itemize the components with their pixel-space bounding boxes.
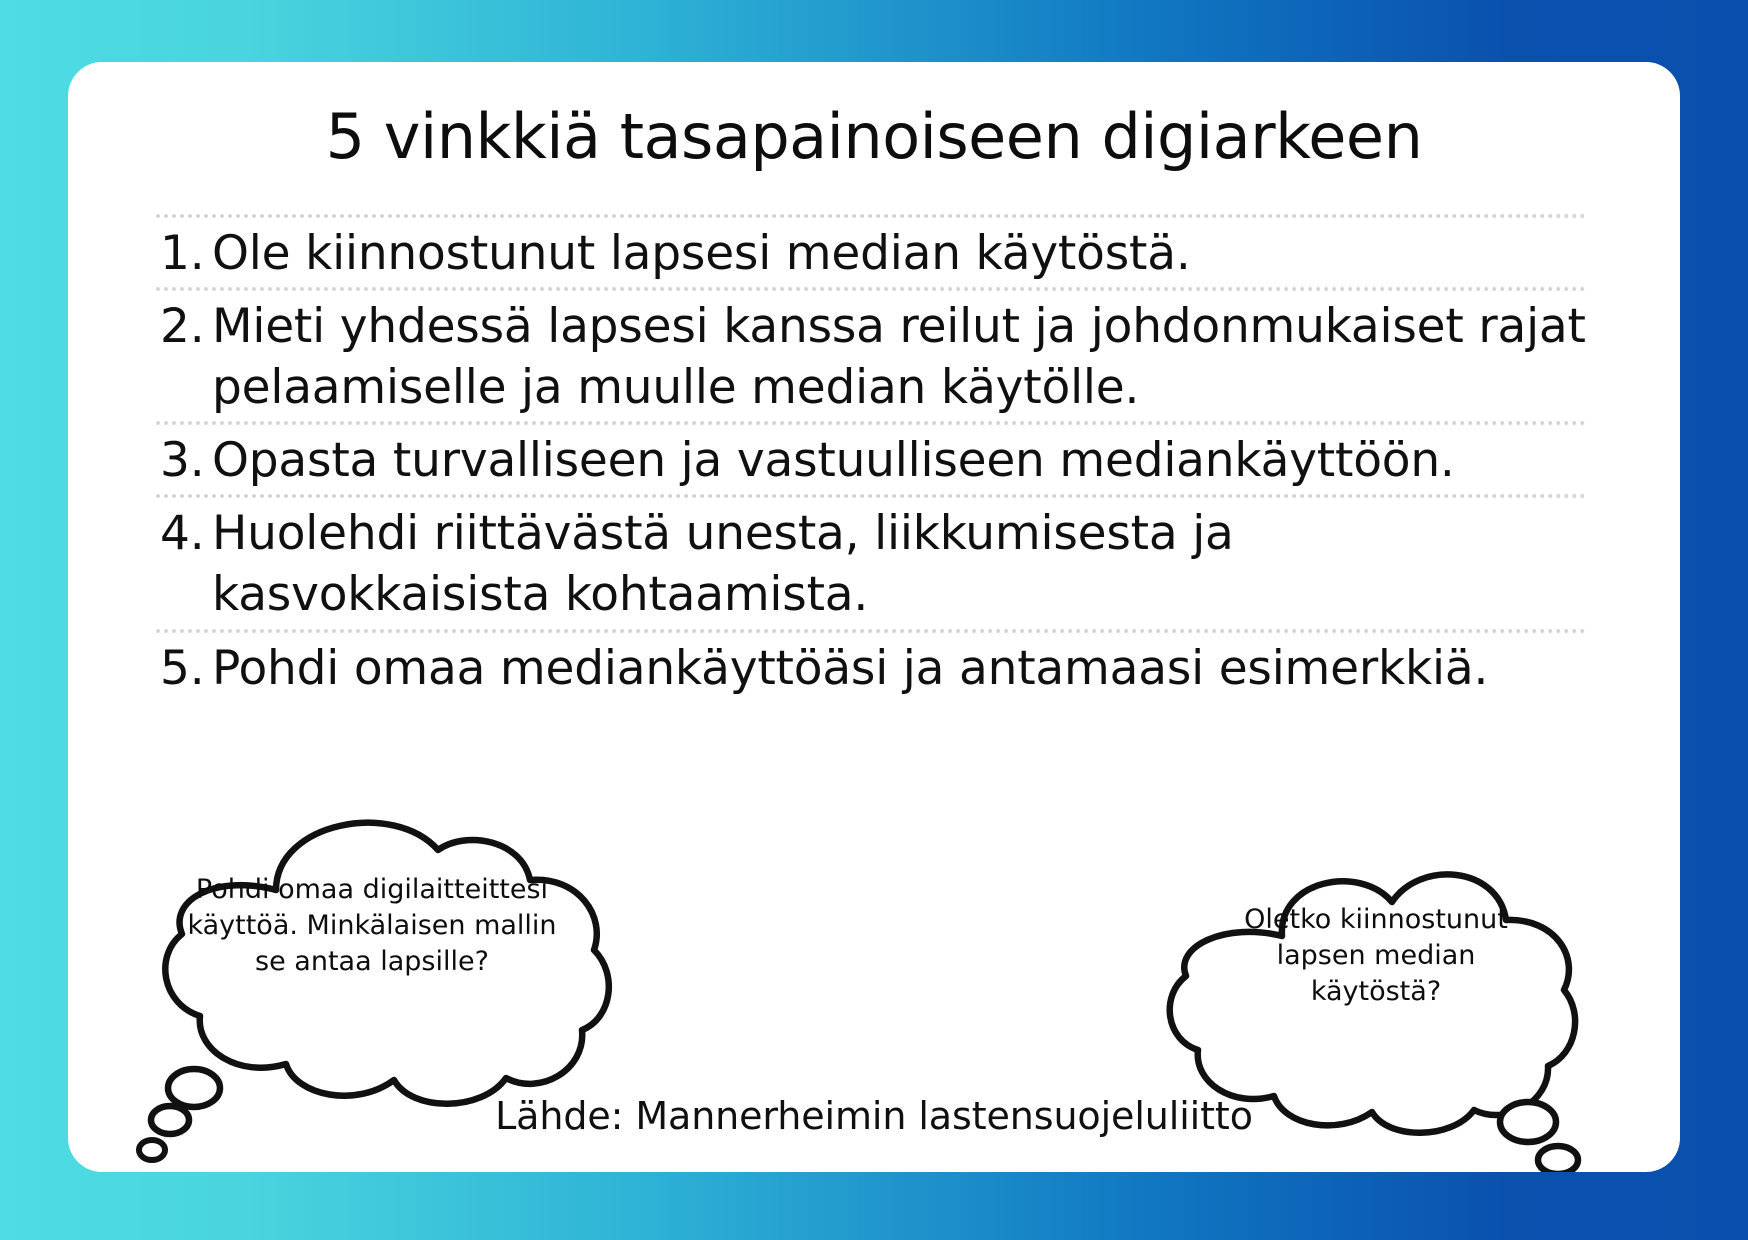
list-item-text: Huolehdi riittävästä unesta, liikkumises…	[212, 503, 1586, 625]
thought-tail-bubble-medium	[1538, 1146, 1578, 1172]
list-item-text: Opasta turvalliseen ja vastuulliseen med…	[212, 430, 1586, 491]
list-item: 3. Opasta turvalliseen ja vastuulliseen …	[156, 425, 1586, 494]
list-item-number: 1.	[156, 223, 212, 284]
tips-list: 1. Ole kiinnostunut lapsesi median käytö…	[156, 214, 1586, 702]
page-title: 5 vinkkiä tasapainoiseen digiarkeen	[68, 104, 1680, 169]
list-item-text: Pohdi omaa mediankäyttöäsi ja antamaasi …	[212, 638, 1586, 699]
list-item: 5. Pohdi omaa mediankäyttöäsi ja antamaa…	[156, 633, 1586, 702]
list-item: 2. Mieti yhdessä lapsesi kanssa reilut j…	[156, 291, 1586, 421]
list-item-number: 5.	[156, 638, 212, 699]
list-item: 4. Huolehdi riittävästä unesta, liikkumi…	[156, 498, 1586, 628]
list-item-text: Ole kiinnostunut lapsesi median käytöstä…	[212, 223, 1586, 284]
content-card: 5 vinkkiä tasapainoiseen digiarkeen 1. O…	[68, 62, 1680, 1172]
list-item: 1. Ole kiinnostunut lapsesi median käytö…	[156, 218, 1586, 287]
thought-tail-bubble-small	[139, 1140, 165, 1160]
slide-background: 5 vinkkiä tasapainoiseen digiarkeen 1. O…	[0, 0, 1748, 1240]
list-item-number: 2.	[156, 296, 212, 357]
thought-bubble-left: Pohdi omaa digilaitteittesi käyttöä. Min…	[126, 778, 626, 1118]
list-item-number: 4.	[156, 503, 212, 564]
list-item-text: Mieti yhdessä lapsesi kanssa reilut ja j…	[212, 296, 1586, 418]
thought-bubble-left-text: Pohdi omaa digilaitteittesi käyttöä. Min…	[172, 872, 572, 980]
list-item-number: 3.	[156, 430, 212, 491]
source-attribution: Lähde: Mannerheimin lastensuojeluliitto	[68, 1094, 1680, 1138]
thought-bubble-right-text: Oletko kiinnostunut lapsen median käytös…	[1216, 902, 1536, 1010]
